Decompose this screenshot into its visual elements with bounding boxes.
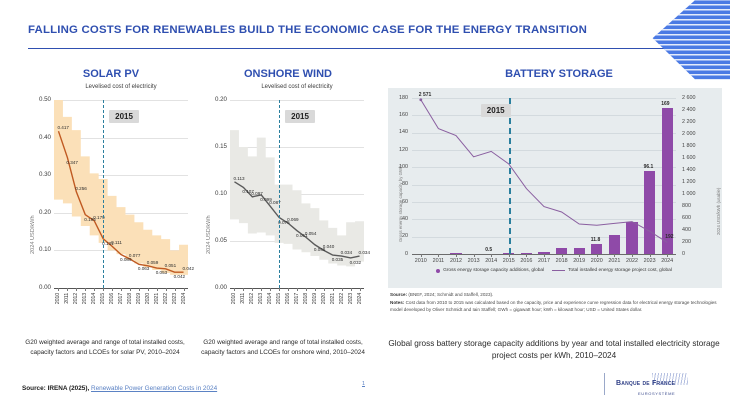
source-link[interactable]: Renewable Power Generation Costs in 2024 xyxy=(91,385,217,392)
legend-item-capacity: Gross energy storage capacity additions,… xyxy=(436,268,544,273)
x-tick-mark xyxy=(261,288,262,291)
slide-root: FALLING COSTS FOR RENEWABLES BUILD THE E… xyxy=(0,0,730,410)
x-tick-label: 2022 xyxy=(624,258,640,264)
legend-line-icon xyxy=(552,270,565,271)
x-tick-label: 2015 xyxy=(276,293,282,304)
x-tick-label: 2012 xyxy=(73,293,79,304)
battery-notes-text: Cost data from 2010 to 2015 was calculat… xyxy=(390,300,717,312)
x-tick-mark xyxy=(76,288,77,291)
x-tick-label: 2013 xyxy=(466,258,482,264)
legend-item-cost: Total installed energy storage project c… xyxy=(552,268,672,273)
panel-title-wind: ONSHORE WIND xyxy=(208,68,368,80)
x-tick-mark xyxy=(351,288,352,291)
x-tick-label: 2011 xyxy=(64,293,70,304)
caption-wind: G20 weighted average and range of total … xyxy=(198,338,368,357)
x-tick-label: 2020 xyxy=(145,293,151,304)
x-tick-label: 2015 xyxy=(100,293,106,304)
logo-subtitle: EUROSYSTÈME xyxy=(638,391,675,396)
x-tick-label: 2011 xyxy=(430,258,446,264)
marker-badge-2015: 2015 xyxy=(109,110,139,123)
x-tick-mark xyxy=(166,288,167,291)
data-label: 0.059 xyxy=(147,260,159,265)
legend-label: Gross energy storage capacity additions,… xyxy=(443,268,544,273)
source-line: Source: IRENA (2025), Renewable Power Ge… xyxy=(22,385,217,392)
marker-badge-2015: 2015 xyxy=(481,104,511,117)
x-tick-mark xyxy=(103,288,104,291)
panel-title-solar: SOLAR PV xyxy=(36,68,186,80)
source-prefix: Source: IRENA (2025), xyxy=(22,385,91,392)
data-label: 0.042 xyxy=(174,274,186,279)
x-tick-mark xyxy=(421,254,422,257)
x-tick-mark xyxy=(184,288,185,291)
x-tick-mark xyxy=(324,288,325,291)
x-tick-mark xyxy=(667,254,668,257)
x-tick-label: 2016 xyxy=(518,258,534,264)
x-tick-label: 2018 xyxy=(127,293,133,304)
data-label: 0.051 xyxy=(165,263,177,268)
battery-notes-label: Notes: xyxy=(390,300,404,305)
x-tick-label: 2014 xyxy=(483,258,499,264)
x-tick-label: 2017 xyxy=(536,258,552,264)
marker-line-2015 xyxy=(279,100,280,288)
x-tick-label: 2016 xyxy=(285,293,291,304)
data-label: 0.063 xyxy=(138,266,150,271)
x-tick-label: 2021 xyxy=(606,258,622,264)
x-tick-mark xyxy=(579,254,580,257)
data-label: 0.040 xyxy=(323,244,335,249)
x-tick-mark xyxy=(139,288,140,291)
x-tick-label: 2011 xyxy=(240,293,246,304)
x-tick-label: 2024 xyxy=(357,293,363,304)
header-divider xyxy=(28,48,668,49)
x-tick-label: 2021 xyxy=(154,293,160,304)
data-label: 0.077 xyxy=(129,253,141,258)
x-tick-mark xyxy=(288,288,289,291)
data-label: 0.069 xyxy=(287,217,299,222)
battery-source-label: Source: xyxy=(390,292,407,297)
data-label: 0.097 xyxy=(251,191,263,196)
battery-source-text: (BNEF, 2024; Schmidt and Staffell, 2023)… xyxy=(407,292,493,297)
x-tick-mark xyxy=(491,254,492,257)
x-tick-mark xyxy=(456,254,457,257)
chart-onshore-wind: Levelised cost of electricity2024 USD/kW… xyxy=(200,84,370,334)
x-tick-label: 2022 xyxy=(163,293,169,304)
x-tick-label: 2019 xyxy=(312,293,318,304)
data-label: 0.347 xyxy=(66,160,78,165)
data-label: 0.111 xyxy=(111,240,122,245)
x-tick-mark xyxy=(94,288,95,291)
data-label: 0.032 xyxy=(350,260,362,265)
x-tick-mark xyxy=(112,288,113,291)
caption-solar: G20 weighted average and range of total … xyxy=(22,338,188,357)
x-tick-mark xyxy=(315,288,316,291)
x-tick-label: 2023 xyxy=(348,293,354,304)
x-tick-mark xyxy=(632,254,633,257)
x-tick-mark xyxy=(526,254,527,257)
x-tick-mark xyxy=(234,288,235,291)
data-label: 0.034 xyxy=(341,250,353,255)
x-tick-mark xyxy=(297,288,298,291)
caption-battery: Global gross battery storage capacity ad… xyxy=(386,338,722,363)
banque-de-france-logo: Banque de France EUROSYSTÈME xyxy=(604,372,716,402)
chart-legend: Gross energy storage capacity additions,… xyxy=(432,268,676,273)
x-tick-label: 2017 xyxy=(118,293,124,304)
x-tick-mark xyxy=(614,254,615,257)
x-tick-mark xyxy=(148,288,149,291)
panel-title-battery: BATTERY STORAGE xyxy=(398,68,720,80)
chart-solar-pv: Levelised cost of electricity2024 USD/kW… xyxy=(24,84,194,334)
x-tick-label: 2014 xyxy=(267,293,273,304)
x-tick-mark xyxy=(279,288,280,291)
legend-label: Total installed energy storage project c… xyxy=(568,268,672,273)
x-tick-label: 2015 xyxy=(501,258,517,264)
data-label: 0.042 xyxy=(183,266,195,271)
page-title: FALLING COSTS FOR RENEWABLES BUILD THE E… xyxy=(28,24,648,36)
x-tick-mark xyxy=(597,254,598,257)
x-tick-mark xyxy=(360,288,361,291)
x-tick-label: 2012 xyxy=(249,293,255,304)
x-tick-mark xyxy=(306,288,307,291)
x-tick-label: 2017 xyxy=(294,293,300,304)
x-tick-label: 2023 xyxy=(172,293,178,304)
x-tick-label: 2024 xyxy=(181,293,187,304)
x-tick-mark xyxy=(243,288,244,291)
x-tick-mark xyxy=(333,288,334,291)
chart-battery-storage: 02040608010012014016018002004006008001 0… xyxy=(388,88,722,288)
x-tick-label: 2010 xyxy=(231,293,237,304)
data-label: 0.053 xyxy=(156,270,168,275)
x-tick-mark xyxy=(85,288,86,291)
data-label: 0.054 xyxy=(305,231,317,236)
logo-name: Banque de France xyxy=(616,380,675,387)
x-tick-label: 2013 xyxy=(82,293,88,304)
x-tick-label: 2013 xyxy=(258,293,264,304)
x-tick-mark xyxy=(342,288,343,291)
marker-line-2015 xyxy=(103,100,104,288)
battery-source-note: Source: (BNEF, 2024; Schmidt and Staffel… xyxy=(390,292,728,299)
x-tick-mark xyxy=(175,288,176,291)
data-label: 0.113 xyxy=(233,176,244,181)
x-tick-label: 2018 xyxy=(303,293,309,304)
x-tick-label: 2020 xyxy=(589,258,605,264)
x-tick-label: 2018 xyxy=(554,258,570,264)
x-tick-label: 2016 xyxy=(109,293,115,304)
x-tick-mark xyxy=(157,288,158,291)
x-tick-mark xyxy=(509,254,510,257)
line-data-label: 2 571 xyxy=(419,92,432,98)
x-tick-mark xyxy=(67,288,68,291)
data-label: 0.417 xyxy=(57,125,69,130)
x-tick-label: 2012 xyxy=(448,258,464,264)
data-label: 0.256 xyxy=(75,186,87,191)
x-tick-label: 2021 xyxy=(330,293,336,304)
line-data-label: 192 xyxy=(665,234,673,240)
x-tick-label: 2019 xyxy=(136,293,142,304)
marker-badge-2015: 2015 xyxy=(285,110,315,123)
x-tick-mark xyxy=(474,254,475,257)
x-tick-mark xyxy=(58,288,59,291)
legend-dot-icon xyxy=(436,269,440,273)
x-tick-mark xyxy=(544,254,545,257)
x-tick-mark xyxy=(121,288,122,291)
x-tick-label: 2010 xyxy=(413,258,429,264)
x-tick-mark xyxy=(270,288,271,291)
data-label: 0.034 xyxy=(359,250,371,255)
x-tick-mark xyxy=(130,288,131,291)
x-tick-label: 2023 xyxy=(642,258,658,264)
data-label: 0.035 xyxy=(332,257,344,262)
x-tick-label: 2022 xyxy=(339,293,345,304)
page-number: 1 xyxy=(362,381,365,387)
x-tick-label: 2014 xyxy=(91,293,97,304)
x-tick-mark xyxy=(438,254,439,257)
x-tick-mark xyxy=(650,254,651,257)
marker-line-2015 xyxy=(509,98,511,254)
x-tick-label: 2024 xyxy=(659,258,675,264)
x-tick-label: 2010 xyxy=(55,293,61,304)
battery-notes: Notes: Cost data from 2010 to 2015 was c… xyxy=(390,300,728,313)
x-tick-label: 2020 xyxy=(321,293,327,304)
x-tick-mark xyxy=(252,288,253,291)
x-tick-label: 2019 xyxy=(571,258,587,264)
x-tick-mark xyxy=(562,254,563,257)
